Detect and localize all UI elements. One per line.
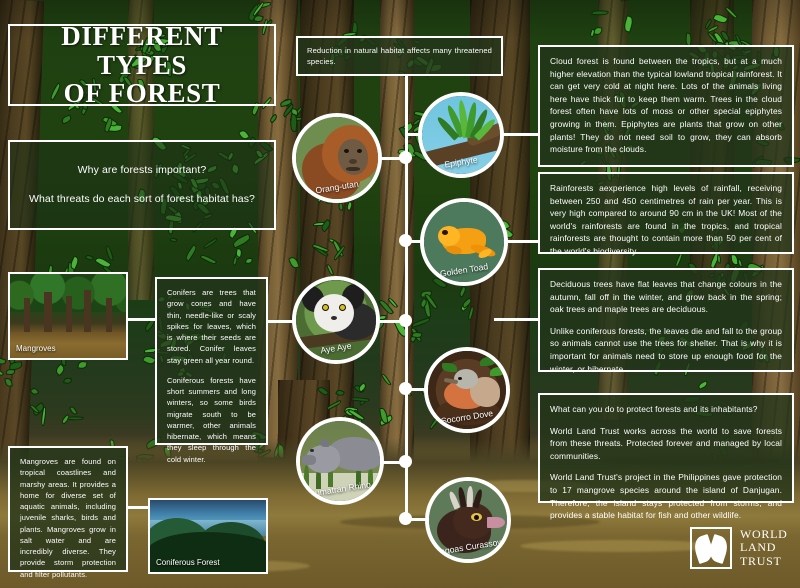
wlt-text-2: World Land Trust works across the world … — [550, 425, 782, 463]
connector-node — [399, 151, 412, 164]
conifer-text-1: Conifers are trees that grow cones and h… — [167, 287, 256, 366]
wlt-text-1: What can you do to protect forests and i… — [550, 403, 782, 416]
species-circle-orangutan[interactable]: Orang-utan — [292, 113, 382, 203]
page-title: DIFFERENT TYPES OF FOREST — [8, 24, 276, 106]
connector-rail — [494, 318, 540, 321]
connector-node — [399, 314, 412, 327]
cloud-forest-panel: Cloud forest is found between the tropic… — [538, 45, 794, 167]
mangrove-panel: Mangroves are found on tropical coastlin… — [8, 446, 128, 572]
title-line-2: OF FOREST — [20, 79, 264, 108]
connector-node — [399, 455, 412, 468]
wlt-text-3: World Land Trust's project in the Philip… — [550, 471, 782, 521]
connector-rail — [500, 133, 540, 136]
questions-panel: Why are forests important? What threats … — [8, 140, 276, 230]
deciduous-text-2: Unlike coniferous forests, the leaves di… — [550, 325, 782, 375]
mangroves-photo: Mangroves — [8, 272, 128, 360]
infographic-canvas: DIFFERENT TYPES OF FOREST Why are forest… — [0, 0, 800, 588]
species-circle-socorro-dove[interactable]: Socorro Dove — [424, 347, 510, 433]
coniferous-photo-caption: Coniferous Forest — [156, 558, 220, 567]
connector-node — [399, 382, 412, 395]
species-circle-alagoas-curassow[interactable]: Alagoas Curassow — [425, 477, 511, 563]
connector-node — [399, 512, 412, 525]
connector-rail — [128, 318, 156, 321]
logo-line-3: TRUST — [740, 555, 788, 568]
habitat-reduction-panel: Reduction in natural habitat affects man… — [296, 36, 503, 76]
deciduous-text-1: Deciduous trees have flat leaves that ch… — [550, 278, 782, 316]
coniferous-forest-photo: Coniferous Forest — [148, 498, 268, 574]
connector-node — [399, 234, 412, 247]
logo-line-1: WORLD — [740, 528, 788, 541]
deciduous-forest-panel: Deciduous trees have flat leaves that ch… — [538, 268, 794, 372]
mangroves-photo-caption: Mangroves — [16, 344, 56, 353]
species-circle-golden-toad[interactable]: Golden Toad — [420, 198, 508, 286]
mangrove-text: Mangroves are found on tropical coastlin… — [20, 456, 116, 580]
connector-rail — [268, 320, 294, 323]
species-circle-aye-aye[interactable]: Aye Aye — [292, 276, 380, 364]
logo-line-2: LAND — [740, 541, 788, 554]
question-2: What threats do each sort of forest habi… — [28, 192, 256, 208]
cloud-forest-text: Cloud forest is found between the tropic… — [550, 55, 782, 156]
leaf-icon — [690, 527, 732, 569]
question-1: Why are forests important? — [28, 163, 256, 179]
rainforest-panel: Rainforests aexperience high levels of r… — [538, 172, 794, 254]
title-line-1: DIFFERENT TYPES — [20, 22, 264, 80]
species-circle-epiphyte[interactable]: Epiphyte — [418, 92, 504, 178]
world-land-trust-logo[interactable]: WORLD LAND TRUST — [690, 520, 794, 576]
rainforest-text: Rainforests aexperience high levels of r… — [550, 182, 782, 258]
logo-wordmark: WORLD LAND TRUST — [740, 528, 788, 568]
conifer-text-2: Coniferous forests have short summers an… — [167, 375, 256, 465]
world-land-trust-panel: What can you do to protect forests and i… — [538, 393, 794, 503]
conifer-panel: Conifers are trees that grow cones and h… — [155, 277, 268, 445]
habitat-reduction-text: Reduction in natural habitat affects man… — [307, 45, 492, 68]
connector-rail — [128, 506, 150, 509]
species-circle-sumatran-rhino[interactable]: Sumatran Rhino — [296, 417, 384, 505]
